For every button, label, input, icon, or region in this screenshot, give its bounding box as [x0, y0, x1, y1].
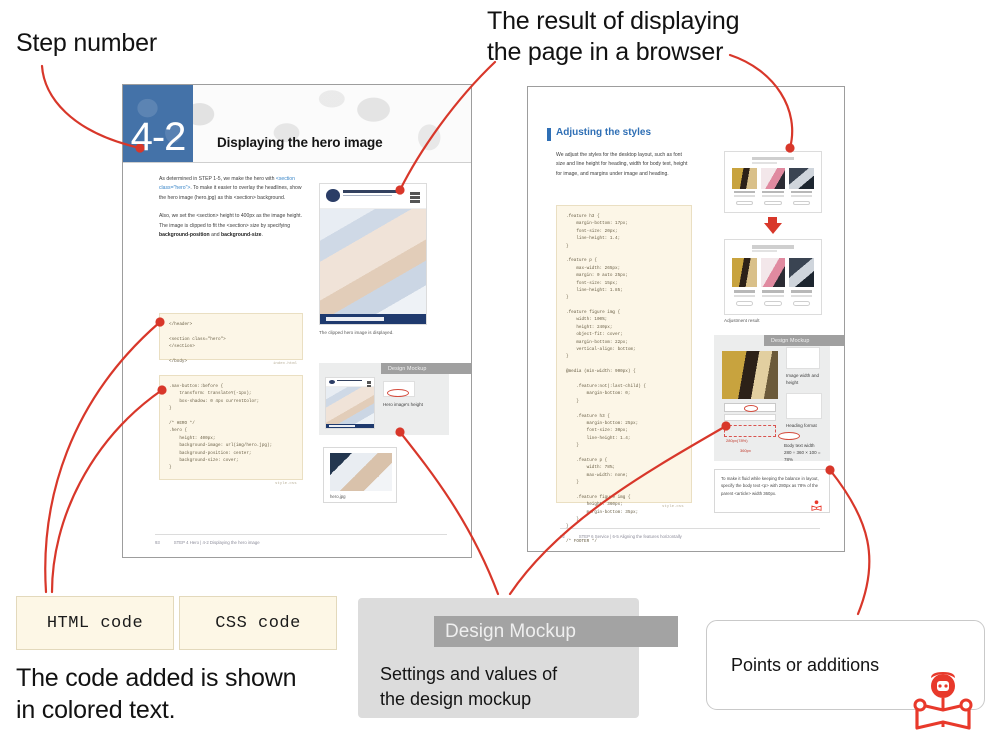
- shot1-card1-text: [734, 195, 755, 197]
- hero-caption-text: [326, 317, 383, 322]
- shot2-card3-title: [791, 290, 812, 293]
- shot1-card2-text: [762, 195, 783, 197]
- shot1-card1-button[interactable]: [736, 201, 753, 205]
- person-reading-book-icon-small: [810, 499, 823, 512]
- browser-screenshot-after: [724, 239, 822, 315]
- step-number-chip: 4-2: [123, 85, 193, 162]
- shot2-card3-image: [789, 258, 814, 288]
- shot1-card3-image: [789, 168, 814, 188]
- browser-screenshot-hero: [319, 183, 427, 325]
- legend-design-mockup-line2: the design mockup: [380, 687, 630, 712]
- right-design-mockup-header: Design Mockup: [764, 335, 845, 346]
- person-reading-book-icon: [911, 672, 975, 734]
- right-css-code-block: .feature h3 { margin-bottom: 17px; font-…: [556, 205, 692, 503]
- shot2-card2-button[interactable]: [764, 301, 781, 306]
- mockup-heading-highlight: [744, 405, 758, 412]
- mockup-bodytext-box: [724, 425, 776, 437]
- css-code-filename: style.css: [275, 482, 297, 486]
- design-mockup-header: Design Mockup: [381, 363, 472, 374]
- callout-browser-result: The result of displaying the page in a b…: [487, 6, 739, 69]
- point-note-text: To make it fluid while keeping the balan…: [721, 476, 819, 496]
- legend-points-label: Points or additions: [731, 655, 879, 676]
- browser-header-bar: [320, 184, 426, 209]
- company-logo-text: [343, 190, 398, 192]
- page-footer-left: 93STEP 4 Hero | 4-2 Displaying the hero …: [155, 534, 447, 535]
- right-design-mockup-panel: Design Mockup Image width and height Hea…: [714, 335, 830, 461]
- header-rule: [123, 162, 471, 163]
- mockup-header-bar: [326, 378, 374, 387]
- footer-page-number: 93: [155, 540, 160, 545]
- mockup-subheading-box: [724, 414, 776, 421]
- transition-arrow-icon: [764, 223, 782, 234]
- shot2-card3-text: [791, 295, 812, 297]
- mockup-dim-bodytext: 280px(78%): [726, 438, 748, 443]
- legend-css-code-label: CSS code: [215, 614, 301, 633]
- shot2-card1-title: [734, 290, 755, 293]
- shot2-card1-text: [734, 295, 755, 297]
- mockup-highlight-ellipse: [387, 389, 409, 397]
- shot1-subtitle: [752, 162, 777, 164]
- css-code-block: .nav-button::before { transform: transla…: [159, 375, 303, 480]
- book-page-left: 4-2 Displaying the hero image As determi…: [122, 84, 472, 558]
- callout-browser-result-line1: The result of displaying: [487, 6, 739, 37]
- shot1-card3-text: [791, 195, 812, 197]
- shot1-card2-title: [762, 191, 783, 193]
- hero-jpg-image: [330, 453, 392, 491]
- shot1-title: [752, 157, 794, 160]
- legend-css-code: CSS code: [179, 596, 337, 650]
- body-paragraph-2: Also, we set the <section> height to 400…: [159, 212, 303, 240]
- mockup-note-heading-format: Heading format: [786, 423, 826, 430]
- page-title: Displaying the hero image: [217, 135, 383, 150]
- company-logo-subtext: [343, 195, 392, 197]
- mockup-dim-total: 360px: [740, 448, 751, 453]
- adjustment-result-caption: Adjustment result: [724, 318, 760, 323]
- shot2-subtitle: [752, 250, 777, 252]
- shot2-card2-text: [762, 295, 783, 297]
- footer-text-right: STEP 6 Service | 6-5 Aligning the featur…: [579, 534, 682, 539]
- mockup-heading-spec-chip: [786, 393, 822, 419]
- mockup-feature-image: [722, 351, 778, 399]
- footer-line-right: 72STEP 6 Service | 6-5 Aligning the feat…: [560, 534, 682, 539]
- mockup-note-bodytext-title: Body text width: [784, 443, 828, 450]
- footer-text: STEP 4 Hero | 4-2 Displaying the hero im…: [174, 540, 260, 545]
- mockup-note-bodytext-value: 280 ÷ 360 × 100 = 78%: [784, 450, 830, 464]
- browser-screenshot-caption: The clipped hero image is displayed.: [319, 330, 394, 335]
- hero-photo: [320, 209, 426, 324]
- page-footer-right: 72STEP 6 Service | 6-5 Aligning the feat…: [560, 528, 820, 529]
- book-page-right: Adjusting the styles We adjust the style…: [527, 86, 845, 552]
- hero-jpg-thumbnail: hero.jpg: [323, 447, 397, 503]
- callout-browser-result-line2: the page in a browser: [487, 37, 739, 68]
- mockup-hero-photo: [326, 387, 374, 428]
- company-logo-mark: [326, 189, 340, 202]
- shot2-card1-button[interactable]: [736, 301, 753, 306]
- section-heading: Adjusting the styles: [556, 127, 651, 138]
- mockup-band-text: [329, 425, 355, 427]
- hamburger-menu-icon: [410, 192, 420, 195]
- mockup-browser-thumb: [325, 377, 375, 429]
- shot2-card3-button[interactable]: [793, 301, 810, 306]
- shot1-card1-title: [734, 191, 755, 193]
- hero-jpg-caption: hero.jpg: [330, 494, 346, 499]
- footer-page-number-right: 72: [560, 534, 565, 539]
- left-body-text: As determined in STEP 1-5, we make the h…: [159, 175, 303, 250]
- legend-html-code: HTML code: [16, 596, 174, 650]
- legend-design-mockup-line1: Settings and values of: [380, 662, 630, 687]
- legend-html-code-label: HTML code: [47, 614, 143, 633]
- shot1-card2-button[interactable]: [764, 201, 781, 205]
- shot1-card3-button[interactable]: [793, 201, 810, 205]
- legend-design-mockup-header: Design Mockup: [434, 616, 678, 647]
- mockup-hamburger-icon: [367, 381, 371, 384]
- legend-design-mockup-description: Settings and values of the design mockup: [380, 662, 630, 712]
- browser-screenshot-before: [724, 151, 822, 213]
- html-code-filename: index.html: [273, 362, 297, 366]
- footer-line: 93STEP 4 Hero | 4-2 Displaying the hero …: [155, 540, 260, 545]
- callout-step-number: Step number: [16, 28, 157, 59]
- shot2-card2-title: [762, 290, 783, 293]
- mockup-logo-mark: [329, 380, 335, 384]
- shot2-card1-image: [732, 258, 757, 288]
- callout-colored-code-line2: in colored text.: [16, 694, 296, 726]
- legend-design-mockup: Design Mockup Settings and values of the…: [358, 598, 639, 718]
- right-body-paragraph: We adjust the styles for the desktop lay…: [556, 151, 692, 179]
- shot2-card2-image: [761, 258, 786, 288]
- shot1-card1-image: [732, 168, 757, 188]
- mockup-note-image-size: Image width and height: [786, 373, 828, 387]
- callout-colored-code: The code added is shown in colored text.: [16, 662, 296, 726]
- html-code-block: </header> <section class="hero"> </secti…: [159, 313, 303, 360]
- right-css-code-filename: style.css: [662, 505, 684, 509]
- mockup-image-spec-chip: [786, 347, 820, 369]
- design-mockup-panel: Design Mockup Hero image's height: [319, 363, 449, 435]
- mockup-bodytext-highlight: [778, 432, 800, 440]
- step-number-text: 4-2: [131, 115, 186, 160]
- mockup-logo-text: [337, 380, 362, 381]
- body-paragraph-1: As determined in STEP 1-5, we make the h…: [159, 175, 303, 203]
- shot1-card3-title: [791, 191, 812, 193]
- callout-colored-code-line1: The code added is shown: [16, 662, 296, 694]
- shot2-title: [752, 245, 794, 248]
- shot1-card2-image: [761, 168, 786, 188]
- mockup-note-hero-height: Hero image's height: [383, 402, 431, 409]
- screenshot-stage: Step number The result of displaying the…: [0, 0, 1000, 750]
- callout-step-number-text: Step number: [16, 29, 157, 57]
- right-body-text: We adjust the styles for the desktop lay…: [556, 151, 692, 179]
